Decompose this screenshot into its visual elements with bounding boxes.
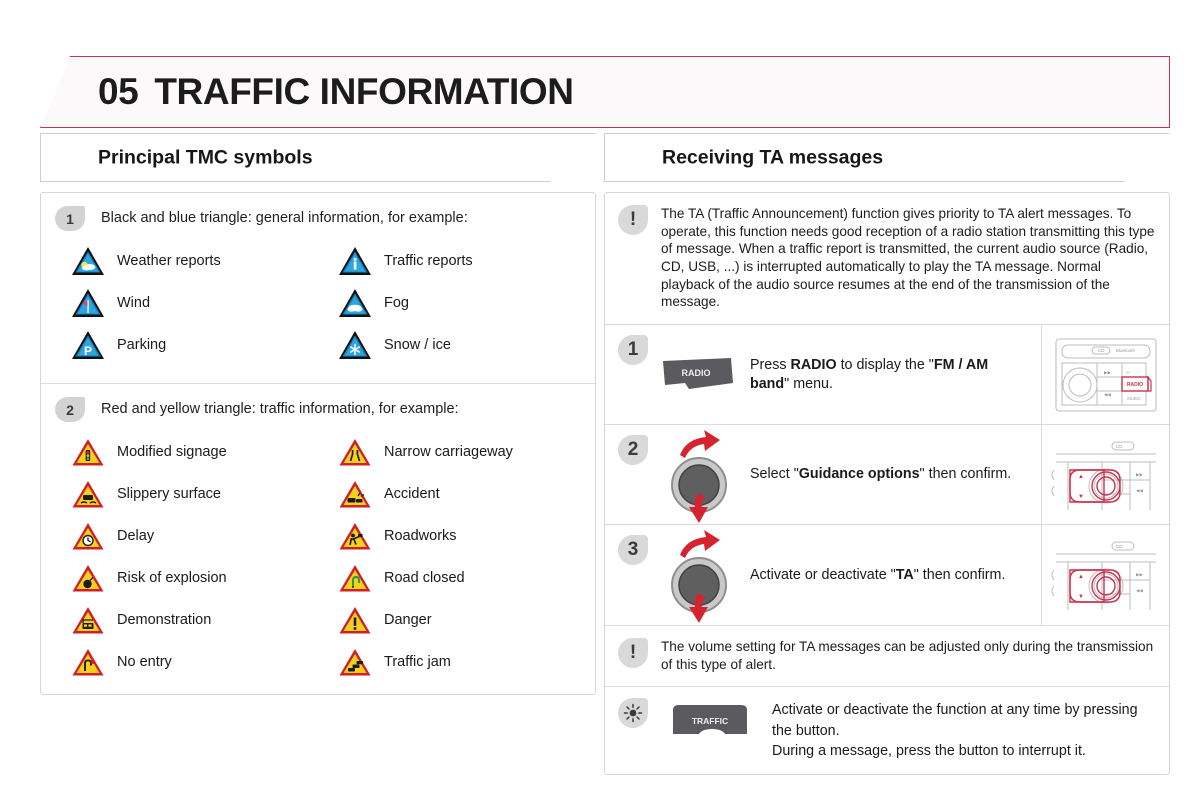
- symbol-item: Risk of explosion: [55, 562, 322, 594]
- symbol-group-2: 2 Red and yellow triangle: traffic infor…: [41, 384, 595, 694]
- symbol-label: Risk of explosion: [117, 570, 227, 586]
- symbol-item: Traffic reports: [322, 245, 579, 277]
- step-text-cell: Activate or deactivate "TA" then confirm…: [746, 525, 1041, 625]
- symbol-label: Narrow carriageway: [384, 444, 513, 460]
- svg-text:▶▶: ▶▶: [1136, 572, 1143, 577]
- rotary-knob-icon[interactable]: [656, 527, 742, 623]
- step-3-text: Activate or deactivate "TA" then confirm…: [750, 566, 1005, 585]
- step-number-cell: 2: [605, 425, 651, 524]
- group-badge-2: 2: [55, 397, 85, 422]
- group-description-2: Red and yellow triangle: traffic informa…: [101, 397, 459, 417]
- radio-faceplate-radio-highlight-icon: CD Bluetooth ▶▶ ◀◀ ↩ RADIO MUSIC: [1050, 333, 1162, 417]
- svg-text:CD: CD: [1098, 348, 1105, 353]
- symbol-item: Narrow carriageway: [322, 436, 579, 468]
- danger-triangle-icon: [338, 604, 372, 636]
- traffic-tip-text: Activate or deactivate the function at a…: [772, 698, 1155, 761]
- symbol-label: Wind: [117, 295, 150, 311]
- traffic-button-label: TRAFFIC: [692, 716, 728, 726]
- group-badge-1: 1: [55, 206, 85, 231]
- step-text-cell: Press RADIO to display the "FM / AM band…: [746, 325, 1041, 424]
- symbol-label: Traffic jam: [384, 654, 451, 670]
- symbol-group-1-header: 1 Black and blue triangle: general infor…: [55, 206, 579, 231]
- parking-triangle-icon: P: [71, 329, 105, 361]
- step-control-cell: [651, 425, 746, 524]
- chapter-title-text: TRAFFIC INFORMATION: [154, 71, 573, 112]
- step-badge: 1: [618, 335, 648, 365]
- symbol-label: Weather reports: [117, 253, 221, 269]
- left-column: Principal TMC symbols 1 Black and blue t…: [40, 133, 596, 695]
- snow-ice-triangle-icon: [338, 329, 372, 361]
- narrow-road-triangle-icon: [338, 436, 372, 468]
- exclamation-icon: !: [618, 205, 648, 235]
- symbol-item: Delay: [55, 520, 322, 552]
- symbol-item: Roadworks: [322, 520, 579, 552]
- traffic-jam-triangle-icon: [338, 646, 372, 678]
- svg-text:P: P: [84, 344, 92, 358]
- step-number-cell: 3: [605, 525, 651, 625]
- svg-text:▼: ▼: [1078, 494, 1084, 500]
- top-note: ! The TA (Traffic Announcement) function…: [605, 193, 1169, 324]
- svg-text:▲: ▲: [1078, 574, 1084, 580]
- radio-button-label: RADIO: [681, 368, 710, 378]
- group-description-1: Black and blue triangle: general informa…: [101, 206, 468, 226]
- symbol-label: No entry: [117, 654, 172, 670]
- radio-faceplate-knob-highlight-icon: CD ▶▶ ◀◀ ▲: [1050, 536, 1162, 614]
- slippery-triangle-icon: [71, 478, 105, 510]
- tip-sun-icon: [618, 698, 648, 728]
- page-title: 05TRAFFIC INFORMATION: [98, 71, 574, 113]
- top-note-text: The TA (Traffic Announcement) function g…: [661, 205, 1155, 311]
- symbol-item: Demonstration: [55, 604, 322, 636]
- ta-messages-box: ! The TA (Traffic Announcement) function…: [604, 192, 1170, 775]
- symbol-label: Snow / ice: [384, 337, 451, 353]
- explosion-triangle-icon: [71, 562, 105, 594]
- weather-triangle-icon: [71, 245, 105, 277]
- info-triangle-icon: [338, 245, 372, 277]
- traffic-tip-line-1: Activate or deactivate the function at a…: [772, 700, 1155, 741]
- symbol-label: Slippery surface: [117, 486, 221, 502]
- chapter-header: 05TRAFFIC INFORMATION: [40, 56, 1170, 128]
- symbol-group-2-header: 2 Red and yellow triangle: traffic infor…: [55, 397, 579, 422]
- step-number-cell: 1: [605, 325, 651, 424]
- step-2-text: Select "Guidance options" then confirm.: [750, 465, 1011, 484]
- symbol-item: Slippery surface: [55, 478, 322, 510]
- symbol-grid-2: Modified signage Narrow carriageway: [55, 436, 579, 678]
- roadworks-triangle-icon: [338, 520, 372, 552]
- section-title-left: Principal TMC symbols: [98, 146, 313, 169]
- symbol-label: Road closed: [384, 570, 465, 586]
- symbol-label: Delay: [117, 528, 154, 544]
- svg-text:◀◀: ◀◀: [1136, 588, 1143, 593]
- clock-triangle-icon: [71, 520, 105, 552]
- step-control-cell: [651, 525, 746, 625]
- demonstration-triangle-icon: [71, 604, 105, 636]
- svg-text:CD: CD: [1116, 544, 1123, 549]
- traffic-button-tip: TRAFFIC Activate or deactivate the funct…: [605, 686, 1169, 774]
- rotary-knob-icon[interactable]: [656, 427, 742, 523]
- symbol-item: Accident: [322, 478, 579, 510]
- symbol-label: Modified signage: [117, 444, 227, 460]
- svg-text:▶▶: ▶▶: [1136, 472, 1143, 477]
- symbol-item: No entry: [55, 646, 322, 678]
- traffic-button-wrap: TRAFFIC: [660, 698, 760, 742]
- exclamation-icon: !: [618, 638, 648, 668]
- symbol-item: Wind: [55, 287, 322, 319]
- svg-text:▶▶: ▶▶: [1104, 370, 1111, 375]
- bottom-note: ! The volume setting for TA messages can…: [605, 625, 1169, 686]
- symbol-group-1: 1 Black and blue triangle: general infor…: [41, 193, 595, 377]
- symbol-label: Accident: [384, 486, 440, 502]
- tmc-symbols-box: 1 Black and blue triangle: general infor…: [40, 192, 596, 695]
- symbol-item: Snow / ice: [322, 329, 579, 361]
- symbol-label: Roadworks: [384, 528, 457, 544]
- symbol-item: Road closed: [322, 562, 579, 594]
- step-thumbnail-cell: CD ▶▶ ◀◀ ▲: [1041, 525, 1169, 625]
- sun-icon: [623, 703, 643, 723]
- step-badge: 3: [618, 535, 648, 565]
- svg-text:▼: ▼: [1078, 594, 1084, 600]
- steps-list: 1 RADIO Press RADIO to display the "FM /…: [605, 324, 1169, 625]
- symbol-label: Demonstration: [117, 612, 211, 628]
- step-control-cell: RADIO: [651, 325, 746, 424]
- svg-text:Bluetooth: Bluetooth: [1116, 348, 1136, 353]
- step-row: 3 Activate or deactivate "TA: [605, 525, 1169, 625]
- manual-page: 05TRAFFIC INFORMATION Principal TMC symb…: [0, 0, 1200, 800]
- section-title-right: Receiving TA messages: [662, 146, 883, 169]
- radio-faceplate-knob-highlight-icon: CD ▶▶ ◀◀ ▲: [1050, 436, 1162, 514]
- symbol-item: Weather reports: [55, 245, 322, 277]
- traffic-button-icon[interactable]: TRAFFIC: [667, 702, 753, 742]
- symbol-label: Parking: [117, 337, 166, 353]
- fog-triangle-icon: [338, 287, 372, 319]
- section-tab-receiving-ta-messages: Receiving TA messages: [604, 133, 1170, 182]
- svg-text:CD: CD: [1116, 444, 1123, 449]
- symbol-label: Fog: [384, 295, 409, 311]
- svg-text:◀◀: ◀◀: [1104, 392, 1111, 397]
- symbol-label: Danger: [384, 612, 432, 628]
- no-entry-triangle-icon: [71, 646, 105, 678]
- symbol-item: P Parking: [55, 329, 322, 361]
- svg-text:◀◀: ◀◀: [1136, 488, 1143, 493]
- symbol-grid-1: Weather reports Traffic reports: [55, 245, 579, 361]
- svg-text:RADIO: RADIO: [1126, 382, 1142, 388]
- road-closed-triangle-icon: [338, 562, 372, 594]
- symbol-item: Fog: [322, 287, 579, 319]
- step-thumbnail-cell: CD ▶▶ ◀◀ ▲: [1041, 425, 1169, 524]
- traffic-light-triangle-icon: [71, 436, 105, 468]
- bottom-note-text: The volume setting for TA messages can b…: [661, 638, 1155, 673]
- svg-text:↩: ↩: [1126, 370, 1130, 375]
- right-column: Receiving TA messages ! The TA (Traffic …: [604, 133, 1170, 775]
- symbol-item: Danger: [322, 604, 579, 636]
- symbol-label: Traffic reports: [384, 253, 473, 269]
- section-tab-principal-tmc-symbols: Principal TMC symbols: [40, 133, 596, 182]
- radio-button-icon[interactable]: RADIO: [659, 353, 739, 397]
- step-badge: 2: [618, 435, 648, 465]
- step-thumbnail-cell: CD Bluetooth ▶▶ ◀◀ ↩ RADIO MUSIC: [1041, 325, 1169, 424]
- step-1-text: Press RADIO to display the "FM / AM band…: [750, 356, 1029, 394]
- traffic-tip-line-2: During a message, press the button to in…: [772, 741, 1155, 761]
- symbol-item: Modified signage: [55, 436, 322, 468]
- accident-triangle-icon: [338, 478, 372, 510]
- step-text-cell: Select "Guidance options" then confirm.: [746, 425, 1041, 524]
- step-row: 1 RADIO Press RADIO to display the "FM /…: [605, 325, 1169, 425]
- symbol-item: Traffic jam: [322, 646, 579, 678]
- svg-text:MUSIC: MUSIC: [1127, 396, 1141, 401]
- svg-text:▲: ▲: [1078, 474, 1084, 480]
- wind-triangle-icon: [71, 287, 105, 319]
- step-row: 2 Select "Guidance options": [605, 425, 1169, 525]
- chapter-number: 05: [98, 71, 138, 112]
